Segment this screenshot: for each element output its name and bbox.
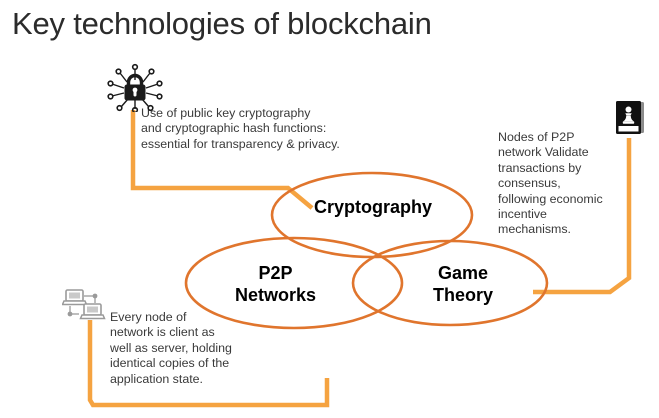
- note-p2p-line-2: network is client as: [110, 325, 260, 340]
- note-consensus-line-4: consensus,: [498, 176, 618, 191]
- note-consensus-line-6: incentive: [498, 207, 618, 222]
- note-consensus: Nodes of P2P network Validate transactio…: [498, 130, 618, 238]
- note-consensus-line-2: network Validate: [498, 145, 618, 160]
- note-p2p-line-4: identical copies of the: [110, 356, 260, 371]
- ledger-pawn-icon: [612, 100, 646, 138]
- note-consensus-line-1: Nodes of P2P: [498, 130, 618, 145]
- lock-circuit-icon: [107, 62, 163, 112]
- note-p2p-line-5: application state.: [110, 372, 260, 387]
- network-computers-icon: [62, 287, 114, 327]
- venn-label-game-theory: Game Theory: [403, 262, 523, 306]
- venn-label-p2p-line-1: P2P: [208, 262, 343, 284]
- note-cryptography: Use of public key cryptography and crypt…: [141, 106, 371, 152]
- note-cryptography-line-2: and cryptographic hash functions:: [141, 121, 371, 136]
- note-p2p-line-3: well as server, holding: [110, 341, 260, 356]
- venn-label-game-line-2: Theory: [403, 284, 523, 306]
- venn-label-p2p-line-2: Networks: [208, 284, 343, 306]
- note-cryptography-line-3: essential for transparency & privacy.: [141, 137, 371, 152]
- note-p2p-line-1: Every node of: [110, 310, 260, 325]
- venn-label-cryptography: Cryptography: [288, 196, 458, 218]
- venn-label-p2p-networks: P2P Networks: [208, 262, 343, 306]
- note-cryptography-line-1: Use of public key cryptography: [141, 106, 371, 121]
- slide-canvas: Key technologies of blockchain Cryptogra…: [0, 0, 659, 418]
- note-consensus-line-5: following economic: [498, 192, 618, 207]
- venn-label-game-line-1: Game: [403, 262, 523, 284]
- note-consensus-line-7: mechanisms.: [498, 222, 618, 237]
- note-consensus-line-3: transactions by: [498, 161, 618, 176]
- note-p2p-networks: Every node of network is client as well …: [110, 310, 260, 387]
